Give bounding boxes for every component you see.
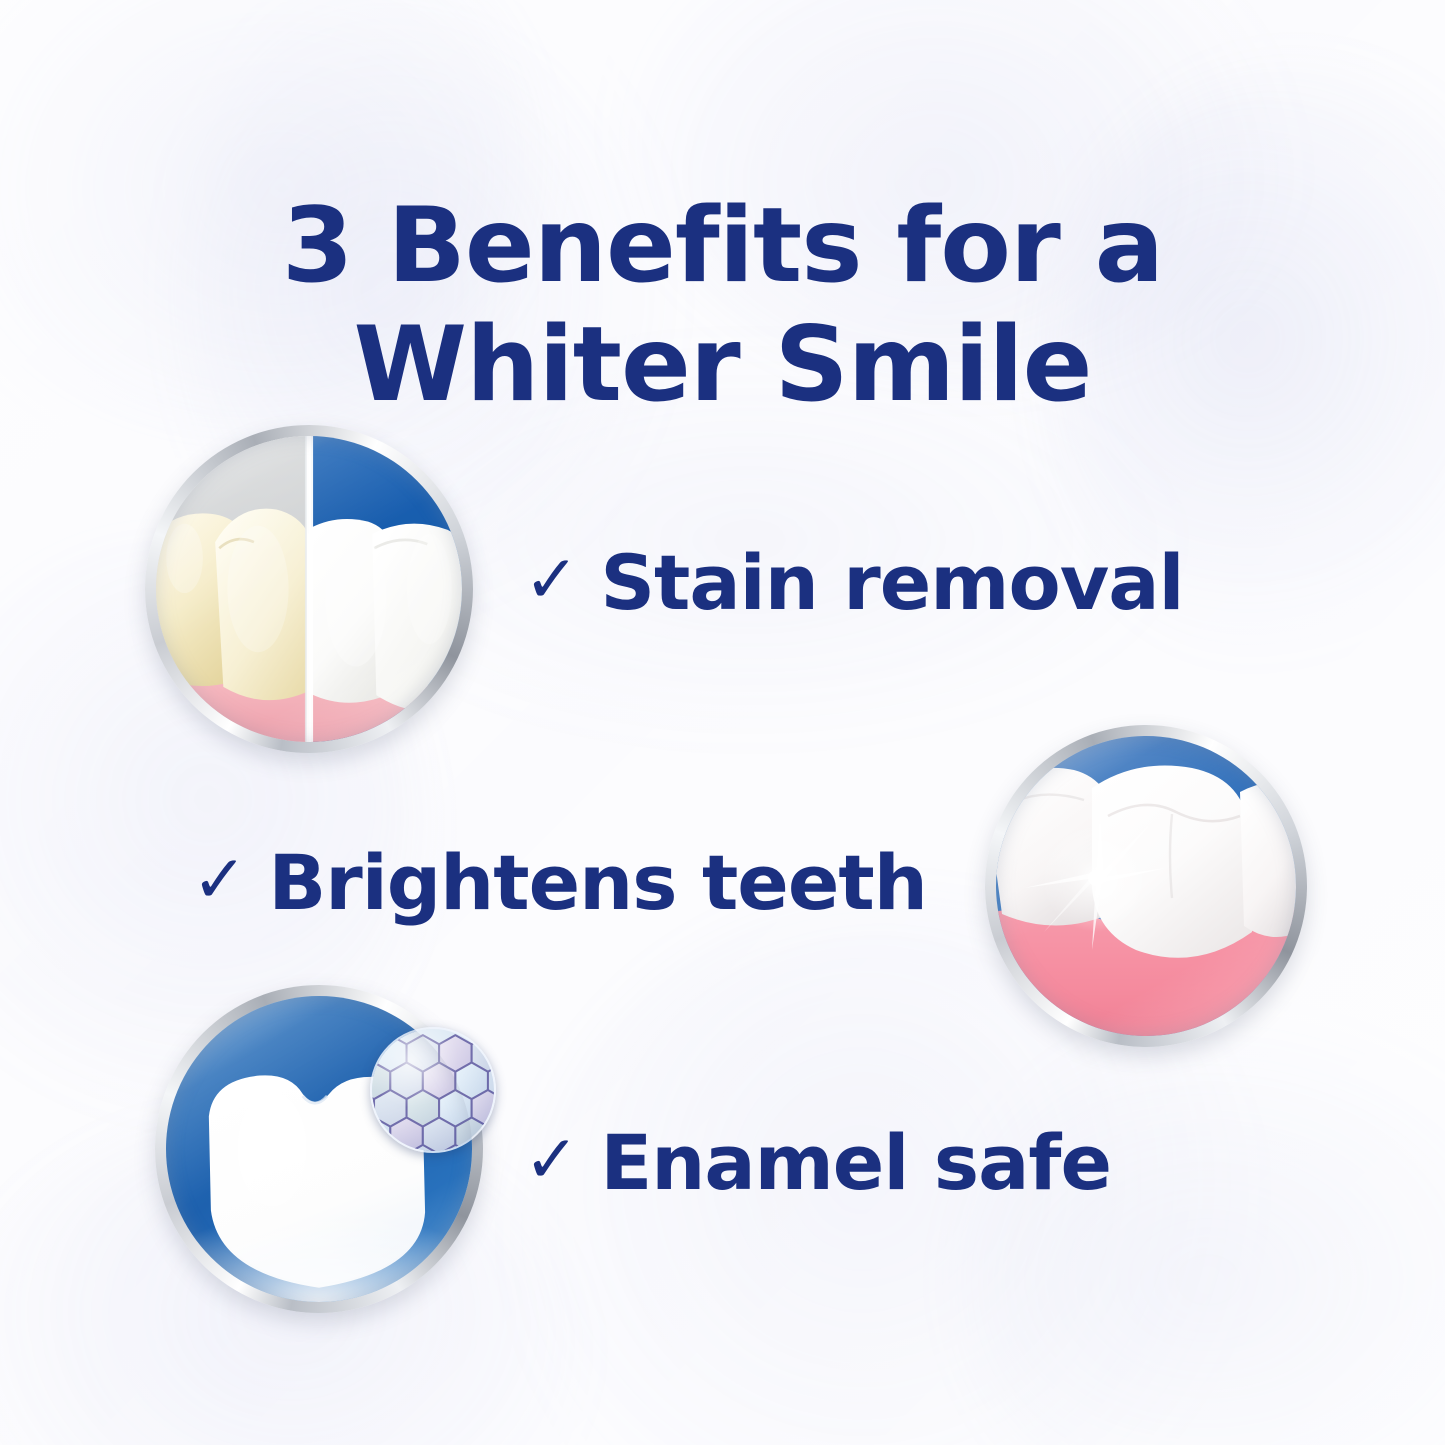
badge-inner [156,436,462,742]
hexagon-grid-icon [372,1029,494,1151]
benefit-label: Enamel safe [600,1118,1111,1207]
benefit-image-brightens-teeth [985,725,1307,1047]
page-title: 3 Benefits for a Whiter Smile [0,187,1445,426]
benefit-label: Stain removal [600,538,1183,627]
benefit-label: Brightens teeth [268,838,927,927]
shining-tooth-icon [996,736,1296,1036]
benefit-image-enamel-safe [155,985,483,1313]
enamel-hexagon-bubble [370,1027,496,1153]
badge-inner [996,736,1296,1036]
page-title-line-1: 3 Benefits for a [0,187,1445,306]
infographic-canvas: 3 Benefits for a Whiter Smile [0,0,1445,1445]
split-divider [306,436,313,742]
benefit-row-stain-removal: ✓ Stain removal [524,538,1184,627]
before-after-teeth-icon [156,436,462,742]
check-icon: ✓ [192,847,246,913]
page-title-line-2: Whiter Smile [0,306,1445,425]
benefit-image-stain-removal [145,425,473,753]
benefit-row-brightens-teeth: ✓ Brightens teeth [192,838,927,927]
benefit-row-enamel-safe: ✓ Enamel safe [524,1118,1111,1207]
check-icon: ✓ [524,1127,578,1193]
check-icon: ✓ [524,547,578,613]
